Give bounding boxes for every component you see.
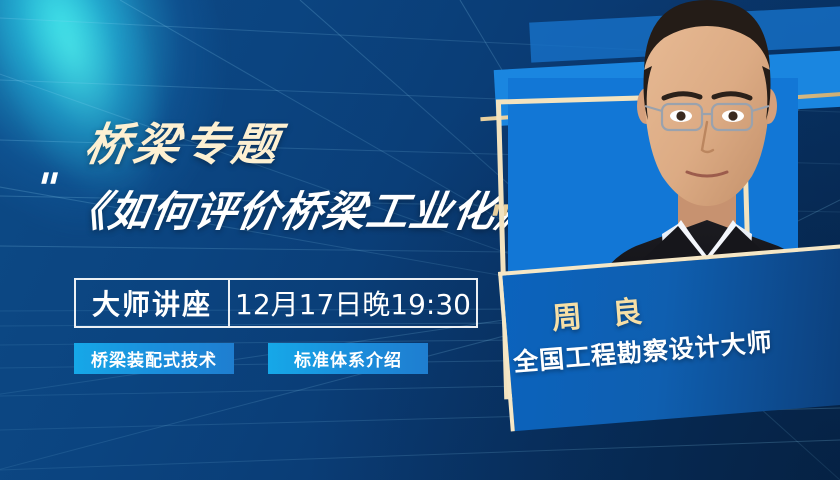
speaker-title: 全国工程勘察设计大师 — [512, 322, 774, 379]
topic-tag-2: 标准体系介绍 — [268, 343, 428, 374]
lecture-info-bar: 大师讲座 12月17日晚19:30 — [74, 278, 478, 328]
lecture-category-label: 大师讲座 — [92, 283, 212, 323]
speaker-nameplate: 周 良 全国工程勘察设计大师 — [498, 244, 840, 431]
lecture-datetime: 12月17日晚19:30 — [228, 280, 476, 326]
topic-tag-1-label: 桥梁装配式技术 — [91, 346, 217, 371]
lecture-category: 大师讲座 — [76, 280, 228, 326]
topic-title: 桥梁专题 — [81, 108, 287, 173]
speaker-nameplate-content: 周 良 全国工程勘察设计大师 — [550, 276, 774, 375]
lecture-poster: 桥梁专题 " 《如何评价桥梁工业化》 " 大师讲座 12月17日晚19:30 桥… — [0, 0, 840, 480]
topic-tag-2-label: 标准体系介绍 — [294, 346, 402, 371]
quote-open-mark: " — [31, 168, 63, 210]
topic-tag-1: 桥梁装配式技术 — [74, 343, 234, 374]
lecture-datetime-label: 12月17日晚19:30 — [235, 283, 471, 323]
headline-block: 桥梁专题 " 《如何评价桥梁工业化》 " — [0, 0, 540, 270]
